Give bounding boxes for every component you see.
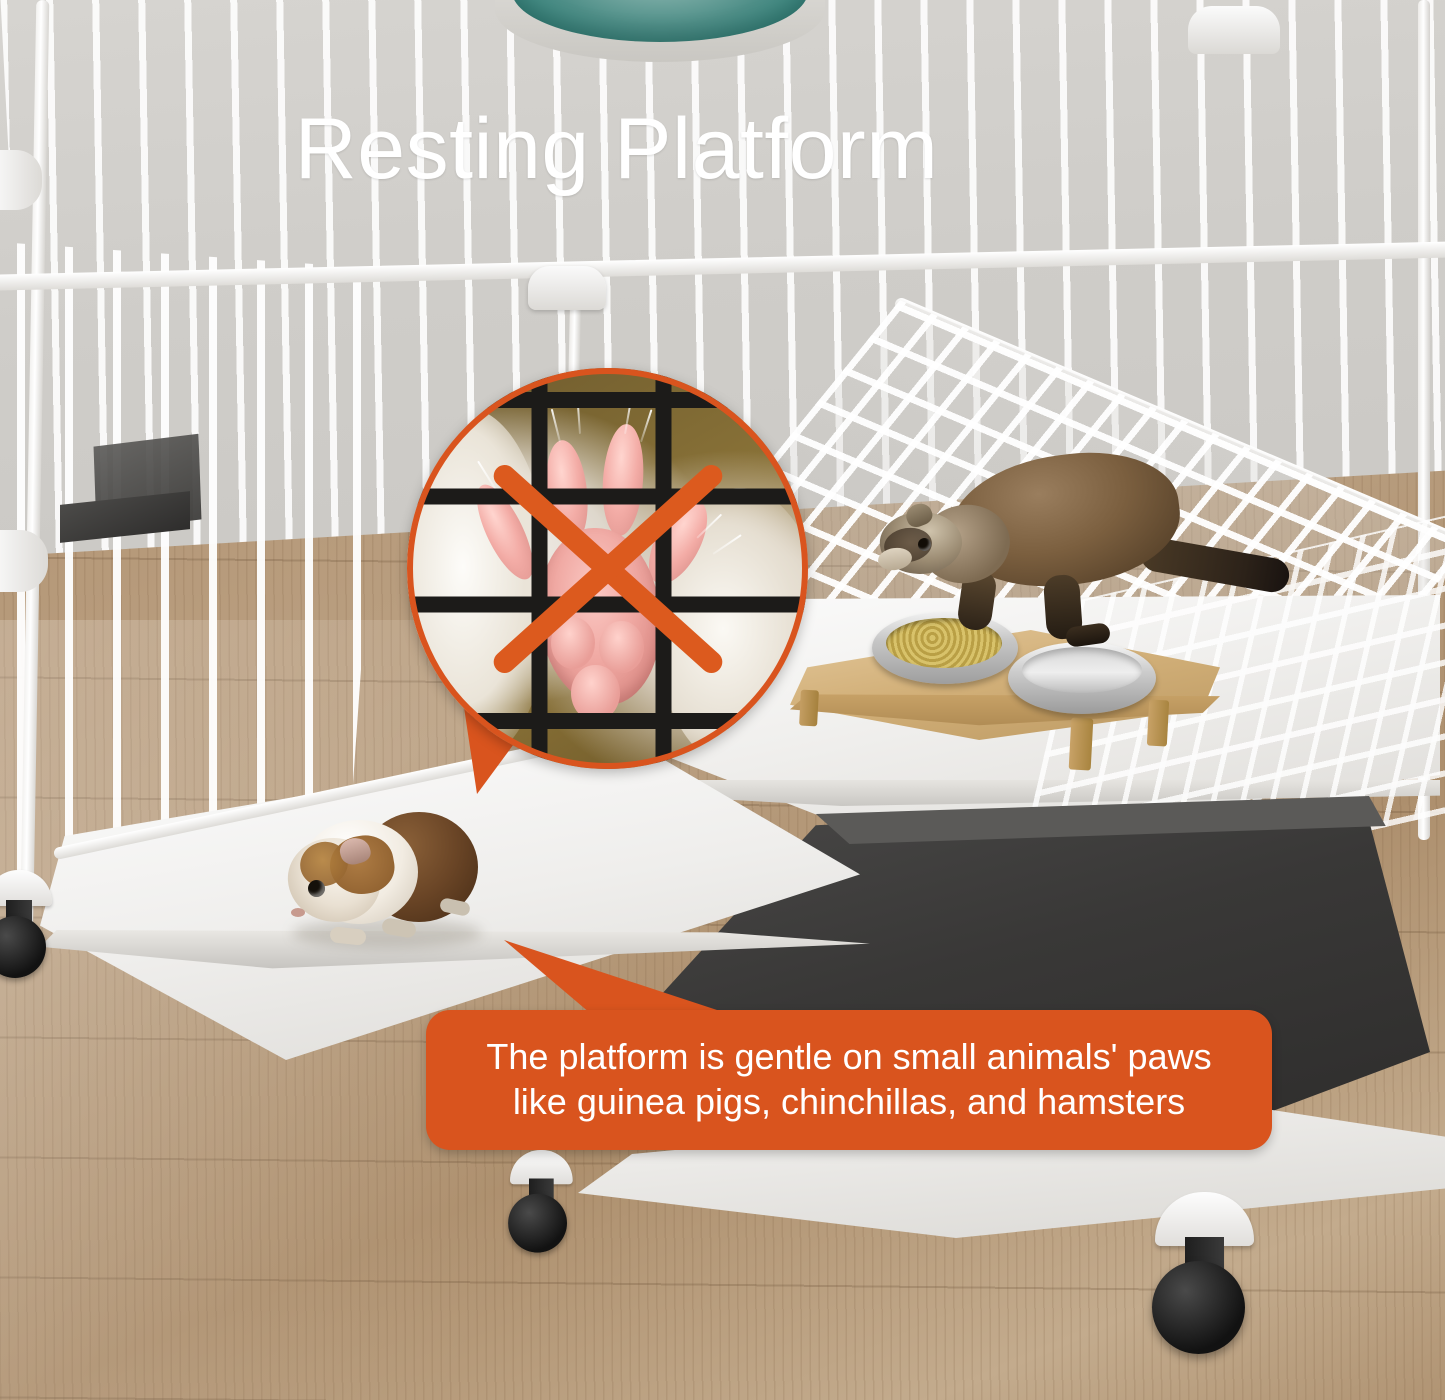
guinea-pig-nose	[291, 908, 305, 917]
bamboo-feeder-leg	[1069, 717, 1094, 770]
caster-roller	[508, 1194, 567, 1253]
bamboo-feeder-leg	[1147, 700, 1169, 747]
ferret-eye	[918, 538, 931, 551]
feature-caption-bubble: The platform is gentle on small animals'…	[426, 1010, 1272, 1150]
cage-connector-knob	[1188, 6, 1280, 54]
caption-line-2: like guinea pigs, chinchillas, and hamst…	[513, 1080, 1185, 1125]
page-title: Resting Platform	[295, 106, 939, 192]
title-banner: Resting Platform	[45, 50, 1372, 248]
cage-connector-knob	[528, 266, 606, 310]
stainless-water-bowl-interior	[1022, 647, 1142, 693]
caster-roller	[1152, 1261, 1245, 1354]
caption-line-1: The platform is gentle on small animals'…	[486, 1035, 1211, 1080]
guinea-pig-eye	[308, 880, 325, 897]
callout-photo-clip	[407, 368, 808, 769]
product-feature-image: Resting Platform	[0, 0, 1445, 1400]
wire-grid-warning-callout	[407, 368, 808, 769]
cage-connector-knob	[0, 530, 48, 592]
